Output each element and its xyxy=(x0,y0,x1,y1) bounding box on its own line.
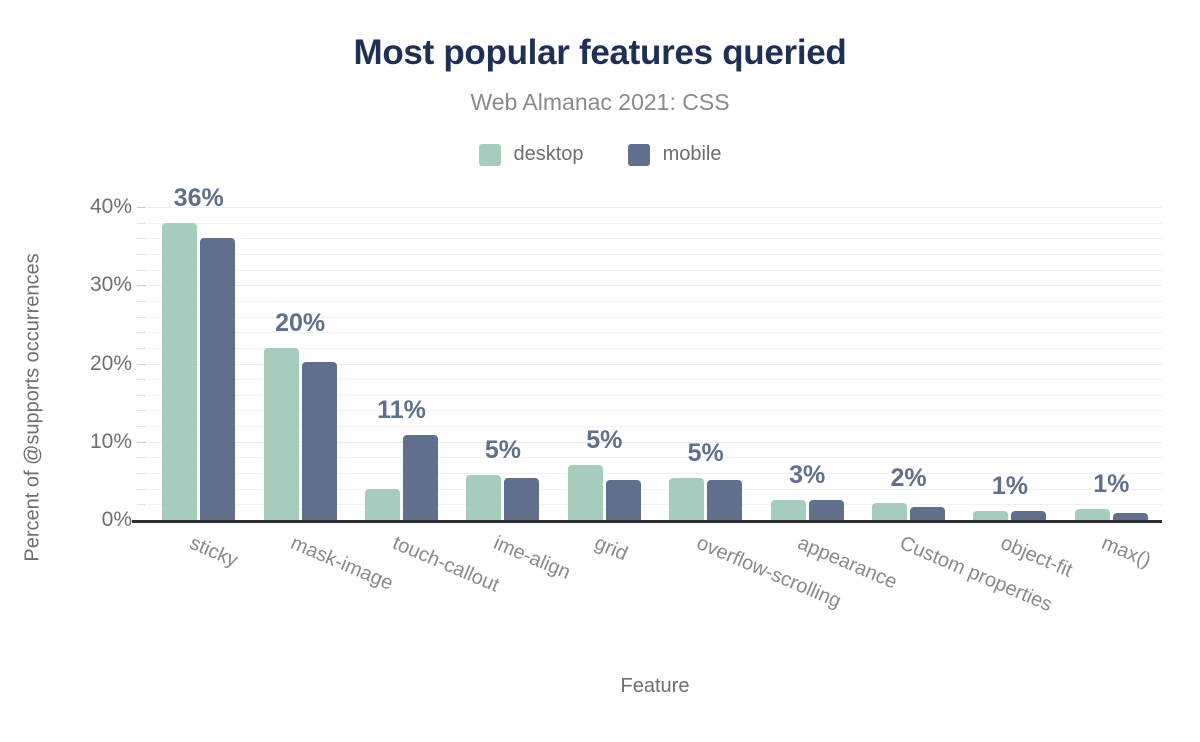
y-tick-mark xyxy=(137,270,146,271)
x-tick-label: grid xyxy=(591,532,631,566)
x-label-cell: max() xyxy=(1061,526,1162,656)
x-axis-title: Feature xyxy=(148,675,1162,698)
bar-mobile[interactable] xyxy=(1113,513,1148,520)
y-tick-label: 30% xyxy=(90,273,132,297)
bar-data-label: 5% xyxy=(655,439,756,468)
bar-mobile[interactable] xyxy=(910,507,945,520)
x-label-cell: touch-callout xyxy=(351,526,452,656)
legend-swatch-desktop xyxy=(479,144,501,166)
y-tick-mark xyxy=(137,348,146,349)
legend-item-mobile[interactable]: mobile xyxy=(628,143,722,166)
bars xyxy=(655,207,756,520)
y-tick-mark xyxy=(137,254,146,255)
y-tick-mark xyxy=(137,410,146,411)
bar-data-label: 3% xyxy=(756,461,857,490)
x-label-cell: overflow-scrolling xyxy=(655,526,756,656)
x-tick-label: sticky xyxy=(186,532,241,573)
bar-group: 5% xyxy=(452,207,553,520)
bar-desktop[interactable] xyxy=(568,465,603,520)
chart-title: Most popular features queried xyxy=(0,33,1200,73)
bar-desktop[interactable] xyxy=(365,489,400,520)
bars xyxy=(452,207,553,520)
bar-desktop[interactable] xyxy=(669,478,704,520)
x-label-cell: ime-align xyxy=(452,526,553,656)
plot-area: 36%20%11%5%5%5%3%2%1%1% xyxy=(148,207,1162,520)
legend-label-mobile: mobile xyxy=(663,143,722,166)
x-label-cell: mask-image xyxy=(249,526,350,656)
y-tick-mark xyxy=(137,395,146,396)
bar-mobile[interactable] xyxy=(403,435,438,520)
x-axis-tick-labels: stickymask-imagetouch-calloutime-aligngr… xyxy=(148,526,1162,656)
bars xyxy=(148,207,249,520)
bar-data-label: 20% xyxy=(249,309,350,338)
bar-data-label: 11% xyxy=(351,396,452,425)
bar-group: 5% xyxy=(554,207,655,520)
chart-container: Most popular features queried Web Almana… xyxy=(0,0,1200,742)
y-tick-label: 40% xyxy=(90,195,132,219)
bar-mobile[interactable] xyxy=(1011,511,1046,520)
bar-group: 36% xyxy=(148,207,249,520)
x-axis-line xyxy=(132,520,1162,523)
bar-mobile[interactable] xyxy=(200,238,235,520)
bar-data-label: 5% xyxy=(554,426,655,455)
y-axis-tick-labels: 0%10%20%30%40% xyxy=(0,207,132,520)
bar-data-label: 36% xyxy=(148,184,249,213)
bar-mobile[interactable] xyxy=(606,480,641,520)
bars xyxy=(351,207,452,520)
bars xyxy=(249,207,350,520)
bar-data-label: 1% xyxy=(959,472,1060,501)
y-tick-mark xyxy=(137,473,146,474)
bar-data-label: 2% xyxy=(858,464,959,493)
x-tick-label: max() xyxy=(1098,532,1154,573)
bar-group: 1% xyxy=(959,207,1060,520)
bar-group: 11% xyxy=(351,207,452,520)
y-tick-mark xyxy=(137,317,146,318)
bar-groups: 36%20%11%5%5%5%3%2%1%1% xyxy=(148,207,1162,520)
bar-desktop[interactable] xyxy=(872,503,907,520)
legend-item-desktop[interactable]: desktop xyxy=(479,143,584,166)
x-label-cell: appearance xyxy=(756,526,857,656)
y-tick-label: 0% xyxy=(102,508,132,532)
x-label-cell: sticky xyxy=(148,526,249,656)
chart-subtitle: Web Almanac 2021: CSS xyxy=(0,89,1200,116)
y-tick-mark xyxy=(137,332,146,333)
chart-legend: desktopmobile xyxy=(0,143,1200,166)
y-tick-mark xyxy=(137,426,146,427)
bar-group: 5% xyxy=(655,207,756,520)
y-tick-mark xyxy=(137,207,146,208)
y-tick-mark xyxy=(137,238,146,239)
bar-desktop[interactable] xyxy=(771,500,806,520)
legend-swatch-mobile xyxy=(628,144,650,166)
x-label-cell: Custom properties xyxy=(858,526,959,656)
x-label-cell: grid xyxy=(554,526,655,656)
y-tick-mark xyxy=(137,442,146,443)
bar-desktop[interactable] xyxy=(466,475,501,520)
bar-desktop[interactable] xyxy=(973,511,1008,520)
y-tick-mark xyxy=(137,489,146,490)
bar-mobile[interactable] xyxy=(302,362,337,520)
y-tick-mark xyxy=(137,457,146,458)
y-tick-mark xyxy=(137,364,146,365)
bar-mobile[interactable] xyxy=(504,478,539,520)
bar-desktop[interactable] xyxy=(162,223,197,520)
bar-data-label: 1% xyxy=(1061,470,1162,499)
y-tick-label: 10% xyxy=(90,430,132,454)
x-label-cell: object-fit xyxy=(959,526,1060,656)
bar-group: 20% xyxy=(249,207,350,520)
bar-mobile[interactable] xyxy=(809,500,844,520)
bars xyxy=(554,207,655,520)
bar-desktop[interactable] xyxy=(1075,509,1110,520)
y-tick-mark xyxy=(137,504,146,505)
bar-mobile[interactable] xyxy=(707,480,742,520)
y-tick-mark xyxy=(137,285,146,286)
bar-group: 2% xyxy=(858,207,959,520)
bar-desktop[interactable] xyxy=(264,348,299,520)
bar-group: 1% xyxy=(1061,207,1162,520)
bar-group: 3% xyxy=(756,207,857,520)
y-tick-mark xyxy=(137,301,146,302)
y-tick-label: 20% xyxy=(90,352,132,376)
y-tick-mark xyxy=(137,223,146,224)
y-tick-mark xyxy=(137,379,146,380)
legend-label-desktop: desktop xyxy=(514,143,584,166)
bar-data-label: 5% xyxy=(452,436,553,465)
